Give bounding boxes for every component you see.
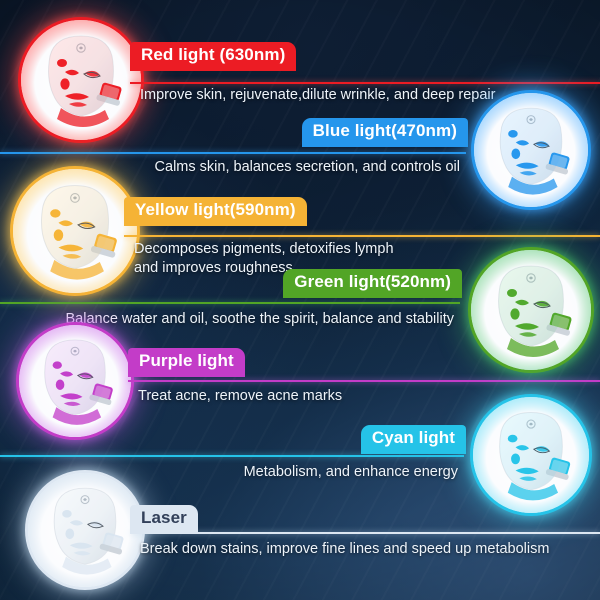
divider-line-laser [130,532,600,534]
mask-photo-purple [16,322,134,440]
mask-illustration [19,325,131,437]
light-badge-laser: Laser [130,505,198,534]
mask-photo-green [468,247,594,373]
mask-photo-cyan [470,394,592,516]
light-description-cyan: Metabolism, and enhance energy [244,463,458,482]
mask-photo-red [18,17,144,143]
light-description-green: Balance water and oil, soothe the spirit… [65,310,454,329]
mask-photo-blue [471,90,591,210]
light-badge-purple: Purple light [128,348,245,377]
mask-illustration [13,169,137,293]
light-badge-green: Green light(520nm) [283,269,462,298]
divider-line-purple [128,380,600,382]
light-description-purple: Treat acne, remove acne marks [138,387,342,406]
divider-line-blue [0,152,466,154]
mask-illustration [471,250,591,370]
light-badge-cyan: Cyan light [361,425,466,454]
mask-photo-yellow [10,166,140,296]
mask-illustration [28,473,142,587]
divider-line-green [0,302,460,304]
infographic-canvas: Red light (630nm)Improve skin, rejuvenat… [0,0,600,600]
light-badge-red: Red light (630nm) [130,42,296,71]
divider-line-cyan [0,455,464,457]
light-description-red: Improve skin, rejuvenate,dilute wrinkle,… [140,86,495,105]
light-description-blue: Calms skin, balances secretion, and cont… [155,158,460,177]
divider-line-red [130,82,600,84]
light-badge-yellow: Yellow light(590nm) [124,197,307,226]
divider-line-yellow [124,235,600,237]
light-description-laser: Break down stains, improve fine lines an… [140,540,549,559]
mask-illustration [21,20,141,140]
mask-illustration [473,397,589,513]
light-badge-blue: Blue light(470nm) [302,118,468,147]
mask-photo-laser [25,470,145,590]
mask-illustration [474,93,588,207]
